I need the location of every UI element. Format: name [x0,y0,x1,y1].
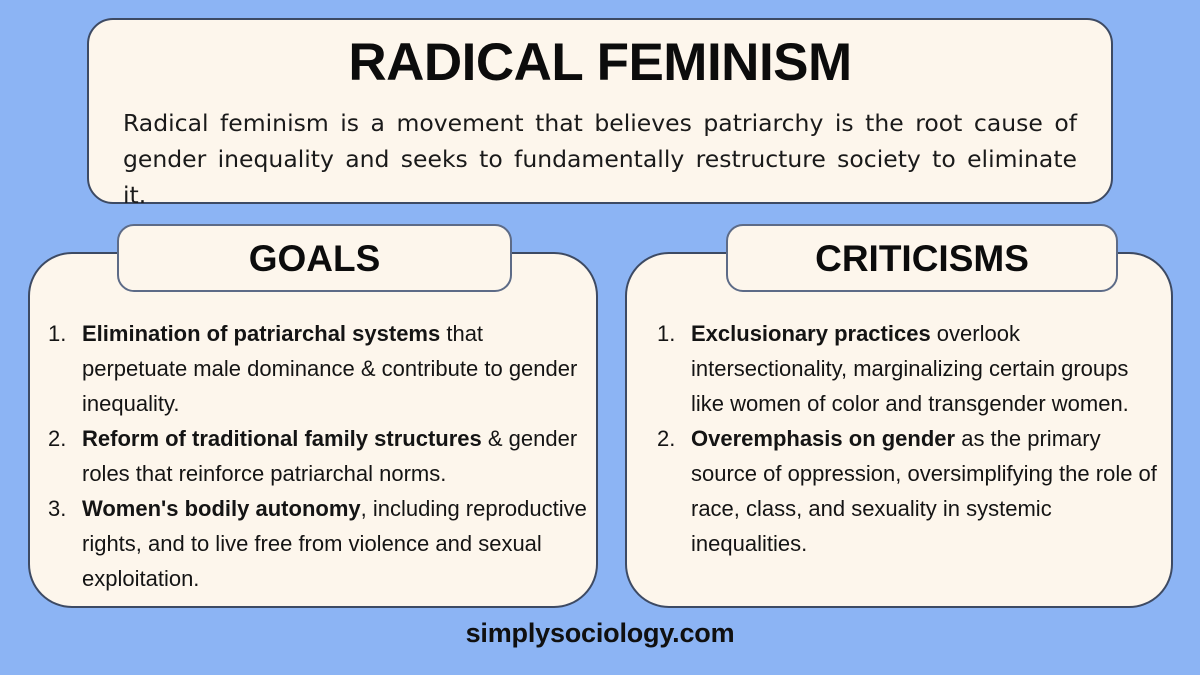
list-item-lead: Elimination of patriarchal systems [82,321,440,346]
criticisms-list: Exclusionary practices overlook intersec… [657,316,1157,561]
list-item: Exclusionary practices overlook intersec… [657,316,1157,421]
list-item-lead: Reform of traditional family structures [82,426,482,451]
list-item-lead: Overemphasis on gender [691,426,955,451]
criticisms-tab-label: CRITICISMS [815,240,1029,277]
goals-tab-label: GOALS [249,240,381,277]
goals-tab: GOALS [117,224,512,292]
list-item-lead: Women's bodily autonomy [82,496,361,521]
footer-credit: simplysociology.com [0,618,1200,649]
list-item: Elimination of patriarchal systems that … [48,316,590,421]
list-item: Reform of traditional family structures … [48,421,590,491]
list-item: Women's bodily autonomy, including repro… [48,491,590,596]
goals-panel: Elimination of patriarchal systems that … [28,252,598,608]
goals-list: Elimination of patriarchal systems that … [48,316,590,596]
criticisms-panel: Exclusionary practices overlook intersec… [625,252,1173,608]
intro-paragraph: Radical feminism is a movement that beli… [123,106,1077,213]
list-item-lead: Exclusionary practices [691,321,931,346]
header-card: RADICAL FEMINISM Radical feminism is a m… [87,18,1113,204]
criticisms-tab: CRITICISMS [726,224,1118,292]
page-title: RADICAL FEMINISM [115,34,1085,92]
list-item: Overemphasis on gender as the primary so… [657,421,1157,561]
